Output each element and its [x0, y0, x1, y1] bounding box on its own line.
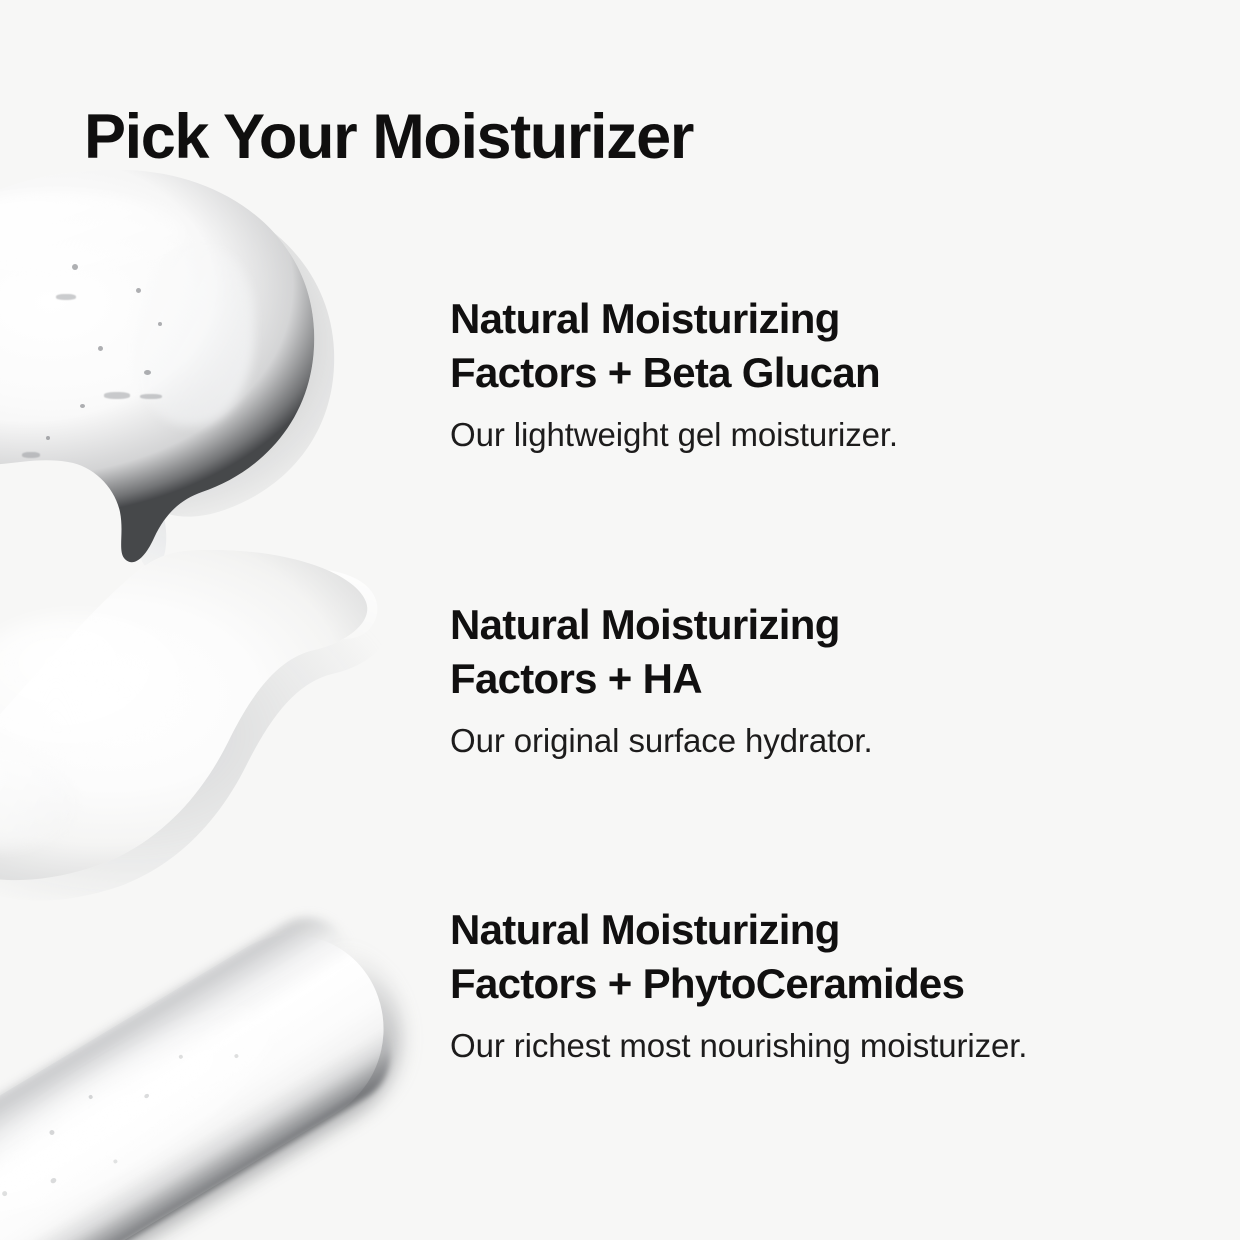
- gel-bubble: [98, 346, 103, 351]
- promo-graphic: Pick Your Moisturizer Natural Moisturizi…: [0, 0, 1240, 1240]
- gel-bubble: [144, 370, 151, 375]
- gel-sheen-right: [134, 246, 254, 426]
- thick-cream-smear-swatch: [0, 905, 460, 1240]
- product-item-ha: Natural MoisturizingFactors + HA Our ori…: [450, 598, 1210, 762]
- product-description: Our original surface hydrator.: [450, 720, 1210, 762]
- product-description: Our richest most nourishing moisturizer.: [450, 1025, 1210, 1067]
- product-title-line-1: Natural Moisturizing: [450, 601, 840, 648]
- clear-gel-blob-swatch: [0, 166, 352, 566]
- product-title-line-2: Factors + Beta Glucan: [450, 349, 880, 396]
- product-title: Natural MoisturizingFactors + PhytoCeram…: [450, 903, 1210, 1011]
- gel-bubble: [72, 264, 78, 270]
- gel-bubble: [80, 404, 85, 408]
- gel-streak: [22, 452, 40, 458]
- product-item-phytoceramides: Natural MoisturizingFactors + PhytoCeram…: [450, 903, 1210, 1067]
- product-description: Our lightweight gel moisturizer.: [450, 414, 1210, 456]
- product-item-beta-glucan: Natural MoisturizingFactors + Beta Gluca…: [450, 292, 1210, 456]
- product-title: Natural MoisturizingFactors + Beta Gluca…: [450, 292, 1210, 400]
- product-title-line-2: Factors + HA: [450, 655, 702, 702]
- product-title-line-2: Factors + PhytoCeramides: [450, 960, 964, 1007]
- gel-bubble: [158, 322, 162, 326]
- gel-bubble: [136, 288, 141, 293]
- gel-bubble: [46, 436, 50, 440]
- gel-streak: [56, 294, 76, 300]
- product-title-line-1: Natural Moisturizing: [450, 295, 840, 342]
- page-title: Pick Your Moisturizer: [84, 104, 693, 170]
- product-title-line-1: Natural Moisturizing: [450, 906, 840, 953]
- gel-streak: [140, 394, 162, 399]
- product-title: Natural MoisturizingFactors + HA: [450, 598, 1210, 706]
- gel-streak: [104, 392, 130, 399]
